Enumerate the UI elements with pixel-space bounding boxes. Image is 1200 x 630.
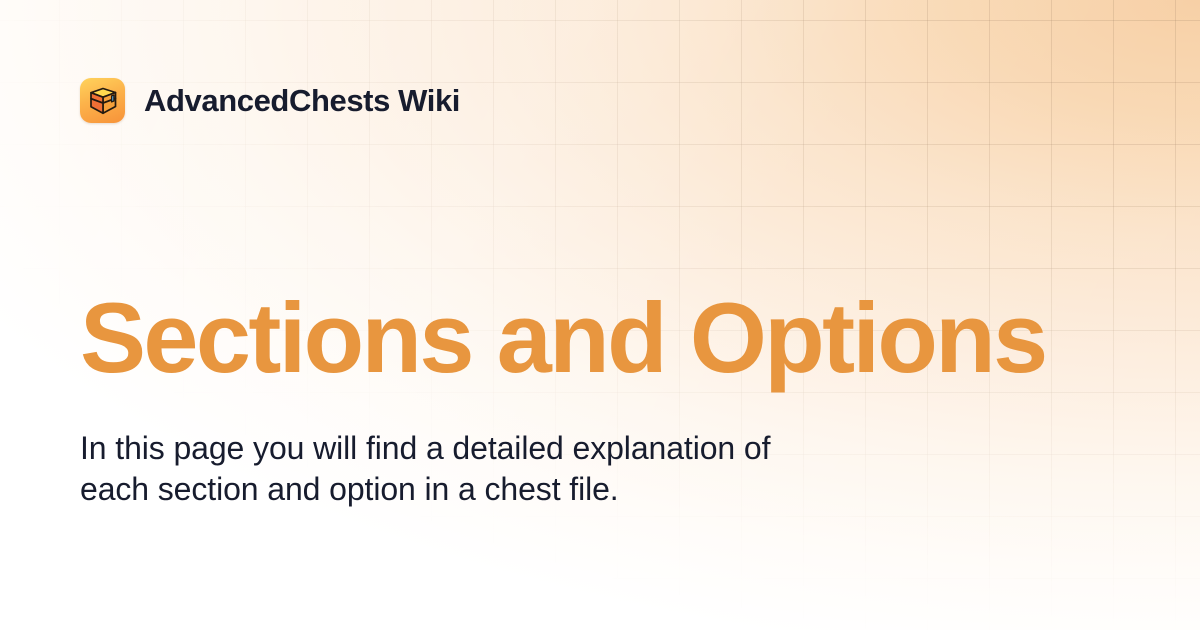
page-description: In this page you will find a detailed ex… <box>80 428 840 510</box>
brand-title: AdvancedChests Wiki <box>144 83 460 119</box>
brand-header: AdvancedChests Wiki <box>80 78 460 123</box>
treasure-chest-icon <box>80 78 125 123</box>
social-preview-card: AdvancedChests Wiki Sections and Options… <box>0 0 1200 630</box>
page-title: Sections and Options <box>80 288 1046 387</box>
card-content: AdvancedChests Wiki Sections and Options… <box>0 0 1200 630</box>
